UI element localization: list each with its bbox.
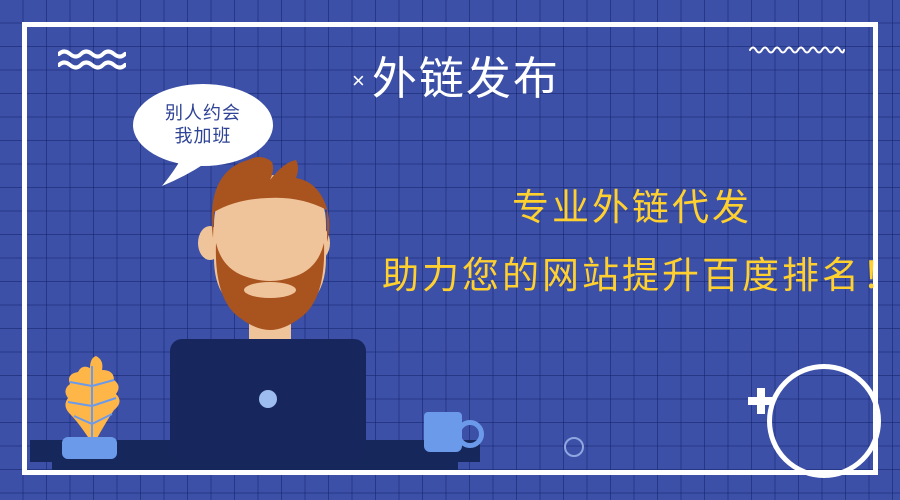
speech-bubble-text: 别人约会 我加班 xyxy=(133,84,273,166)
desk-edge-shape xyxy=(52,460,458,470)
plant-pot-shape xyxy=(62,437,117,459)
speech-bubble-line-2: 我加班 xyxy=(175,125,232,148)
speech-bubble: 别人约会 我加班 xyxy=(133,84,273,166)
speech-bubble-line-1: 别人约会 xyxy=(165,102,241,125)
promo-banner: ×外链发布 专业外链代发 助力您的网站提升百度排名！ 别人约会 xyxy=(0,0,900,500)
laptop-logo-dot xyxy=(259,390,277,408)
coffee-mug-handle xyxy=(456,420,484,448)
potted-plant-icon xyxy=(56,352,128,444)
